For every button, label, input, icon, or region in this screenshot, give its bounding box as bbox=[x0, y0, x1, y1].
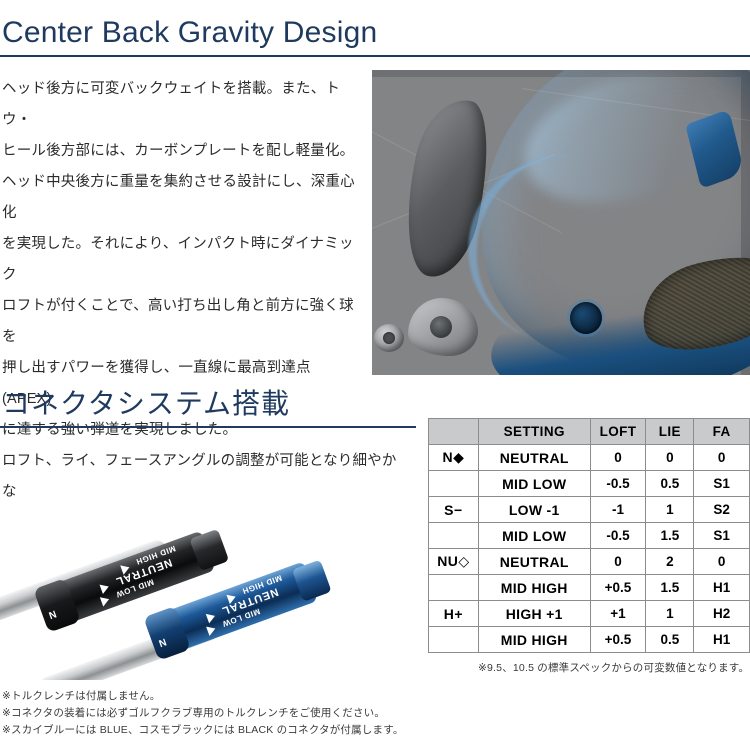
cell-fa: H1 bbox=[694, 575, 750, 601]
page-title: Center Back Gravity Design bbox=[0, 14, 750, 52]
cell-setting: NEUTRAL bbox=[478, 445, 590, 471]
table-header-row: SETTING LOFT LIE FA bbox=[429, 419, 750, 445]
cell-setting: LOW -1 bbox=[478, 497, 590, 523]
weight-screw bbox=[374, 324, 404, 352]
table-row: MID LOW -0.5 1.5 S1 bbox=[429, 523, 750, 549]
table-row: MID HIGH +0.5 1.5 H1 bbox=[429, 575, 750, 601]
cell-fa: S1 bbox=[694, 471, 750, 497]
cell-fa: 0 bbox=[694, 445, 750, 471]
sleeve-arrow-icon bbox=[100, 594, 111, 606]
table-header-setting: SETTING bbox=[478, 419, 590, 445]
section-header-center-back-gravity: Center Back Gravity Design bbox=[0, 14, 750, 57]
table-footnote: ※9.5、10.5 の標準スペックからの可変数値となります。 bbox=[478, 660, 749, 675]
cell-loft: 0 bbox=[590, 549, 646, 575]
cell-setting: MID LOW bbox=[478, 523, 590, 549]
description-line: ロフトが付くことで、高い打ち出し角と前方に強く球を bbox=[2, 291, 362, 353]
table-row: MID LOW -0.5 0.5 S1 bbox=[429, 471, 750, 497]
cell-setting: MID HIGH bbox=[478, 575, 590, 601]
description-line: ヘッド中央後方に重量を集約させる設計にし、深重心化 bbox=[2, 167, 362, 229]
cell-code: S− bbox=[429, 497, 479, 523]
cell-fa: H2 bbox=[694, 601, 750, 627]
cell-setting: MID HIGH bbox=[478, 627, 590, 653]
sleeve-arrow-icon bbox=[206, 611, 217, 623]
table-header-loft: LOFT bbox=[590, 419, 646, 445]
cell-setting: MID LOW bbox=[478, 471, 590, 497]
cell-lie: 1 bbox=[646, 601, 694, 627]
cell-setting: NEUTRAL bbox=[478, 549, 590, 575]
cell-code: NU◇ bbox=[429, 549, 479, 575]
cell-loft: 0 bbox=[590, 445, 646, 471]
cell-fa: 0 bbox=[694, 549, 750, 575]
cell-fa: H1 bbox=[694, 627, 750, 653]
cell-fa: S1 bbox=[694, 523, 750, 549]
cell-lie: 0 bbox=[646, 445, 694, 471]
table-header-code bbox=[429, 419, 479, 445]
loft-lie-fa-adjustment-table: SETTING LOFT LIE FA N◆ NEUTRAL 0 0 0 MID… bbox=[428, 418, 750, 653]
connector-sleeves-photo: N MID HIGH NEUTRAL MID LOW N MID HIGH NE… bbox=[0, 512, 420, 680]
table-row: H+ HIGH +1 +1 1 H2 bbox=[429, 601, 750, 627]
cell-loft: +0.5 bbox=[590, 575, 646, 601]
title-divider bbox=[0, 426, 416, 428]
table-row: S− LOW -1 -1 1 S2 bbox=[429, 497, 750, 523]
sleeve-arrow-icon bbox=[100, 582, 111, 594]
cell-loft: +1 bbox=[590, 601, 646, 627]
cell-code: H+ bbox=[429, 601, 479, 627]
cell-code: N◆ bbox=[429, 445, 479, 471]
cell-loft: -1 bbox=[590, 497, 646, 523]
table-header-fa: FA bbox=[694, 419, 750, 445]
product-render-driver-head bbox=[372, 70, 750, 375]
cell-lie: 1 bbox=[646, 497, 694, 523]
sleeve-cap-black bbox=[189, 529, 229, 571]
cell-code bbox=[429, 575, 479, 601]
sleeve-arrow-icon bbox=[206, 624, 217, 636]
table-header-lie: LIE bbox=[646, 419, 694, 445]
cell-loft: -0.5 bbox=[590, 523, 646, 549]
table-row: NU◇ NEUTRAL 0 2 0 bbox=[429, 549, 750, 575]
sleeve-cap-blue bbox=[292, 560, 332, 602]
cell-code bbox=[429, 523, 479, 549]
footnote-item: ※コネクタの装着には必ずゴルフクラブ専用のトルクレンチをご使用ください。 bbox=[2, 705, 404, 722]
cell-fa: S2 bbox=[694, 497, 750, 523]
cell-code bbox=[429, 627, 479, 653]
footnotes: ※トルクレンチは付属しません。 ※コネクタの装着には必ずゴルフクラブ専用のトルク… bbox=[2, 688, 404, 739]
cell-lie: 0.5 bbox=[646, 627, 694, 653]
cell-lie: 1.5 bbox=[646, 575, 694, 601]
cell-code bbox=[429, 471, 479, 497]
table-row: MID HIGH +0.5 0.5 H1 bbox=[429, 627, 750, 653]
title-divider bbox=[0, 55, 750, 57]
description-line: ロフト、ライ、フェースアングルの調整が可能となり細やかな bbox=[2, 446, 402, 508]
sleeve-collar-black bbox=[33, 578, 81, 633]
cell-setting: HIGH +1 bbox=[478, 601, 590, 627]
description-line: ヘッド後方に可変バックウェイトを搭載。また、トウ・ bbox=[2, 74, 362, 136]
cell-lie: 1.5 bbox=[646, 523, 694, 549]
description-line: を実現した。それにより、インパクト時にダイナミック bbox=[2, 229, 362, 291]
footnote-item: ※スカイブルーには BLUE、コスモブラックには BLACK のコネクタが付属し… bbox=[2, 722, 404, 739]
footnote-item: ※トルクレンチは付属しません。 bbox=[2, 688, 404, 705]
weight-screw-hole bbox=[430, 316, 452, 338]
cell-loft: +0.5 bbox=[590, 627, 646, 653]
table-row: N◆ NEUTRAL 0 0 0 bbox=[429, 445, 750, 471]
cell-lie: 0.5 bbox=[646, 471, 694, 497]
description-line: ヒール後方部には、カーボンプレートを配し軽量化。 bbox=[2, 136, 362, 167]
cell-lie: 2 bbox=[646, 549, 694, 575]
cell-loft: -0.5 bbox=[590, 471, 646, 497]
